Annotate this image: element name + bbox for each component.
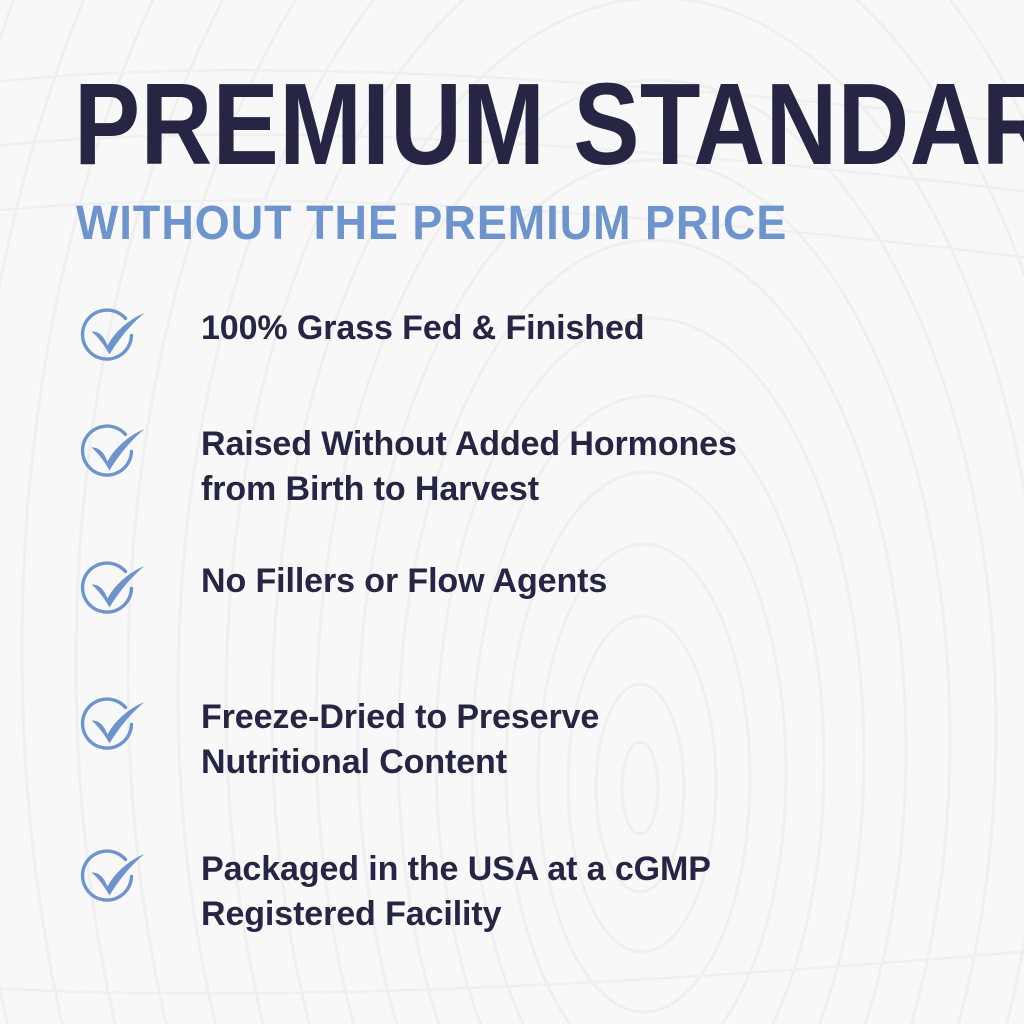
list-item-text: Freeze-Dried to Preserve Nutritional Con… [201, 695, 971, 785]
circle-check-icon [76, 559, 148, 621]
poster-content: PREMIUM STANDARDS WITHOUT THE PREMIUM PR… [0, 0, 1024, 1024]
list-item-text: Packaged in the USA at a cGMP Registered… [201, 847, 971, 937]
list-item-line1: 100% Grass Fed & Finished [201, 309, 644, 347]
circle-check-icon [76, 306, 148, 368]
list-item-line1: Packaged in the USA at a cGMP [201, 850, 711, 888]
list-item-text: 100% Grass Fed & Finished [201, 306, 971, 351]
list-item-line2: Registered Facility [201, 892, 971, 937]
list-item-line2: Nutritional Content [201, 740, 971, 785]
list-item-line1: Raised Without Added Hormones [201, 425, 737, 463]
circle-check-icon [76, 695, 148, 757]
circle-check-icon [76, 847, 148, 909]
list-item-text: No Fillers or Flow Agents [201, 559, 971, 604]
premium-standards-poster: PREMIUM STANDARDS WITHOUT THE PREMIUM PR… [0, 0, 1024, 1024]
list-item-line2: from Birth to Harvest [201, 467, 971, 512]
list-item-line1: No Fillers or Flow Agents [201, 562, 607, 600]
circle-check-icon [76, 422, 148, 484]
page-subtitle: WITHOUT THE PREMIUM PRICE [76, 200, 918, 248]
list-item-line1: Freeze-Dried to Preserve [201, 698, 599, 736]
page-title: PREMIUM STANDARDS [74, 66, 830, 182]
list-item-text: Raised Without Added Hormones from Birth… [201, 422, 971, 512]
